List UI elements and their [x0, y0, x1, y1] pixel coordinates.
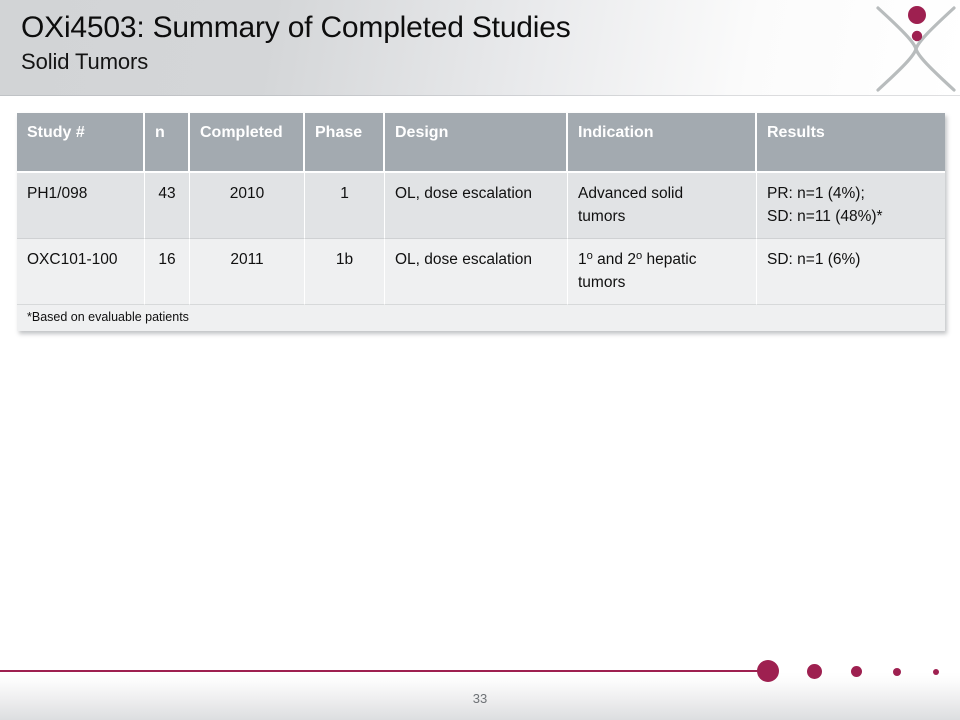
- studies-table-wrapper: Study # n Completed Phase Design Indicat…: [17, 113, 945, 331]
- cell-results: SD: n=1 (6%): [757, 239, 945, 305]
- cell-n: 43: [145, 173, 190, 239]
- table-row: OXC101-100 16 2011 1b OL, dose escalatio…: [17, 239, 945, 305]
- cell-results: PR: n=1 (4%); SD: n=11 (48%)*: [757, 173, 945, 239]
- footer-accent-rule: [0, 670, 765, 672]
- footer-dot-3: [851, 666, 862, 677]
- cell-design: OL, dose escalation: [385, 173, 568, 239]
- cell-indication-line2: tumors: [578, 208, 625, 225]
- table-footnote: *Based on evaluable patients: [17, 305, 945, 331]
- cell-indication-line1: 1o and 2o hepatic: [578, 251, 696, 268]
- footer-dot-4: [893, 668, 901, 676]
- cell-results-line1: SD: n=1 (6%): [767, 251, 860, 268]
- cell-indication-line1: Advanced solid: [578, 185, 683, 202]
- page-subtitle: Solid Tumors: [21, 48, 821, 76]
- column-header-n[interactable]: n: [145, 113, 190, 173]
- completed-studies-table: Study # n Completed Phase Design Indicat…: [17, 113, 945, 331]
- cell-study: OXC101-100: [17, 239, 145, 305]
- column-header-phase[interactable]: Phase: [305, 113, 385, 173]
- column-header-design[interactable]: Design: [385, 113, 568, 173]
- cell-results-line2: SD: n=11 (48%)*: [767, 208, 883, 225]
- cell-indication-line2: tumors: [578, 274, 625, 291]
- title-block: OXi4503: Summary of Completed Studies So…: [21, 8, 821, 76]
- column-header-results[interactable]: Results: [757, 113, 945, 173]
- cell-completed: 2011: [190, 239, 305, 305]
- cell-phase: 1b: [305, 239, 385, 305]
- cell-completed: 2010: [190, 173, 305, 239]
- company-logo: [872, 2, 960, 96]
- table-row: PH1/098 43 2010 1 OL, dose escalation Ad…: [17, 173, 945, 239]
- table-footnote-row: *Based on evaluable patients: [17, 305, 945, 331]
- cell-results-line1: PR: n=1 (4%);: [767, 185, 865, 202]
- column-header-indication[interactable]: Indication: [568, 113, 757, 173]
- cell-phase: 1: [305, 173, 385, 239]
- footer-dot-2: [807, 664, 822, 679]
- column-header-study[interactable]: Study #: [17, 113, 145, 173]
- cell-study: PH1/098: [17, 173, 145, 239]
- page-title: OXi4503: Summary of Completed Studies: [21, 8, 821, 48]
- cell-indication: Advanced solid tumors: [568, 173, 757, 239]
- cell-design: OL, dose escalation: [385, 239, 568, 305]
- header-band-edge: [0, 95, 960, 96]
- cell-n: 16: [145, 239, 190, 305]
- column-header-completed[interactable]: Completed: [190, 113, 305, 173]
- footer-dot-1: [757, 660, 779, 682]
- table-header-row: Study # n Completed Phase Design Indicat…: [17, 113, 945, 173]
- cell-indication: 1o and 2o hepatic tumors: [568, 239, 757, 305]
- page-number: 33: [0, 691, 960, 706]
- footer-dot-5: [933, 669, 939, 675]
